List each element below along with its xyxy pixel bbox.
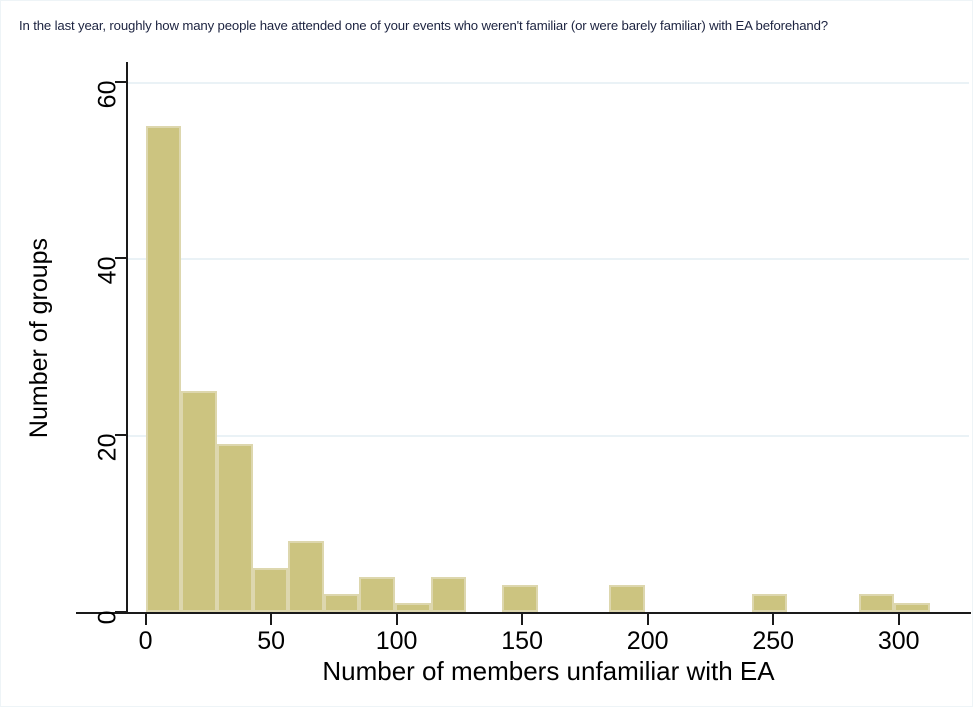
x-tick-label-300: 300 — [878, 627, 920, 656]
y-tick-label-0: 0 — [94, 611, 123, 625]
x-tick-mark-250 — [772, 614, 774, 625]
y-tick-label-20: 20 — [94, 434, 123, 462]
chart-title: In the last year, roughly how many peopl… — [19, 18, 969, 33]
x-tick-mark-100 — [396, 614, 398, 625]
x-axis-line — [76, 612, 971, 614]
x-axis-title: Number of members unfamiliar with EA — [128, 656, 969, 687]
histogram-bar — [395, 603, 431, 612]
x-tick-label-0: 0 — [139, 627, 153, 656]
x-tick-label-50: 50 — [257, 627, 285, 656]
x-tick-mark-150 — [521, 614, 523, 625]
x-tick-mark-200 — [647, 614, 649, 625]
x-tick-mark-50 — [270, 614, 272, 625]
x-tick-label-200: 200 — [627, 627, 669, 656]
bars-layer — [128, 64, 971, 612]
histogram-bar — [752, 594, 788, 612]
histogram-bar — [253, 568, 289, 612]
histogram-bar — [502, 585, 538, 612]
x-tick-mark-300 — [898, 614, 900, 625]
histogram-bar — [146, 126, 182, 612]
histogram-bar — [217, 444, 253, 612]
histogram-bar — [288, 541, 324, 612]
histogram-bar — [859, 594, 895, 612]
histogram-bar — [894, 603, 930, 612]
x-tick-label-150: 150 — [501, 627, 543, 656]
y-tick-label-40: 40 — [94, 257, 123, 285]
x-tick-mark-0 — [145, 614, 147, 625]
x-tick-label-250: 250 — [752, 627, 794, 656]
histogram-bar — [324, 594, 360, 612]
chart-page: In the last year, roughly how many peopl… — [0, 0, 973, 707]
y-tick-label-60: 60 — [94, 80, 123, 108]
histogram-bar — [359, 577, 395, 612]
histogram-bar — [431, 577, 467, 612]
histogram-bar — [609, 585, 645, 612]
x-tick-label-100: 100 — [376, 627, 418, 656]
histogram-bar — [181, 391, 217, 612]
y-axis-title: Number of groups — [25, 64, 54, 612]
